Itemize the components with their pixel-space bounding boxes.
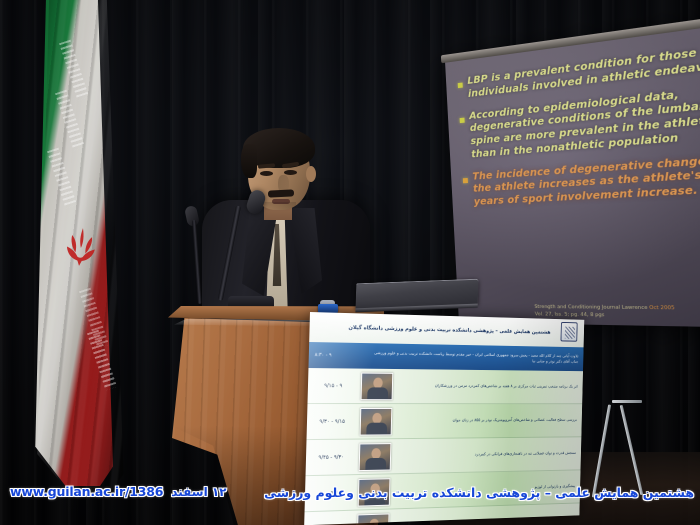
- poster-row-time: ۹/۳۰ - ۹/۴۵: [306, 454, 356, 461]
- caption-right-group: هشتمین همایش علمی – پژوهشی دانشکده تربیت…: [264, 484, 694, 502]
- poster-row: ۹ - ۹/۱۵ اثر یک برنامه منتخب تمرینی ثبات…: [307, 368, 583, 404]
- poster-speaker-photo: [361, 372, 394, 400]
- photo-body: [365, 457, 386, 470]
- poster-row-time: ۹/۱۵ - ۹/۳۰: [307, 418, 357, 424]
- photo-head: [373, 377, 383, 388]
- poster-row-text: بررسی سطح فعالیت عضلانی و شاخص‌های آنترو…: [395, 417, 582, 424]
- poster-row-time: ۹ - ۹/۱۵: [308, 383, 358, 389]
- photo-body: [366, 422, 387, 435]
- university-logo-icon: [561, 322, 578, 342]
- projection-screen: LBP is a prevalent condition for those i…: [445, 23, 700, 327]
- poster-row: ۹/۱۵ - ۹/۳۰ بررسی سطح فعالیت عضلانی و شا…: [307, 404, 583, 440]
- slide-bullet: The incidence of degenerative change in …: [462, 153, 700, 211]
- speaker-eye-left: [260, 171, 273, 176]
- bullet-square-icon: [460, 117, 465, 122]
- bullet-square-icon: [463, 177, 468, 182]
- speaker-hair-side: [241, 144, 257, 178]
- caption-left-group: ۱۲ اسفند www.guilan.ac.ir/1386: [10, 484, 227, 499]
- poster-speaker-photo: [360, 407, 393, 435]
- caption-event-title: هشتمین همایش علمی – پژوهشی دانشکده تربیت…: [264, 485, 694, 500]
- speaker-ear: [306, 166, 316, 182]
- poster-row-text: اثر یک برنامه منتخب تمرینی ثبات مرکزی بر…: [396, 383, 583, 391]
- poster-opening-time: ۹ - ۸:۳۰: [315, 352, 332, 358]
- photo-body: [367, 387, 388, 400]
- citation-year: Oct 2005: [649, 306, 675, 312]
- speaker-eye-right: [284, 170, 297, 175]
- citation-author: Lawrence: [622, 306, 648, 312]
- poster-opening-row: ۹ - ۸:۳۰ تلاوت آیاتی چند از کلام الله مج…: [308, 342, 583, 371]
- poster-title: هشتمین همایش علمی – پژوهشی دانشکده تربیت…: [330, 323, 566, 336]
- bullet-square-icon: [458, 83, 463, 89]
- poster-opening-text: تلاوت آیاتی چند از کلام الله مجید - پخش …: [373, 350, 583, 366]
- iran-emblem-icon: [61, 224, 101, 270]
- slide-bullet-text: The incidence of degenerative change in …: [472, 153, 700, 210]
- poster-speaker-photo: [359, 443, 392, 471]
- citation-journal: Strength and Conditioning Journal: [534, 305, 620, 311]
- speaker-mustache: [268, 189, 294, 197]
- conference-photo-stage: LBP is a prevalent condition for those i…: [0, 0, 700, 525]
- poster-row-text: سنجش قدرت و توان عضلانی تنه در ناهنجاری‌…: [394, 450, 581, 459]
- easel-crossbar: [612, 400, 642, 403]
- presentation-laptop: [355, 279, 478, 310]
- iran-flag: [18, 0, 138, 494]
- caption-date: ۱۲ اسفند: [171, 485, 226, 499]
- photo-head: [372, 412, 382, 423]
- caption-url: www.guilan.ac.ir/1386: [10, 484, 163, 499]
- speaker-chin-shadow: [262, 202, 296, 212]
- citation-detail: Vol. 27, Iss. 5; pg. 44, 8 pgs: [535, 312, 605, 318]
- presentation-slide: LBP is a prevalent condition for those i…: [457, 43, 700, 320]
